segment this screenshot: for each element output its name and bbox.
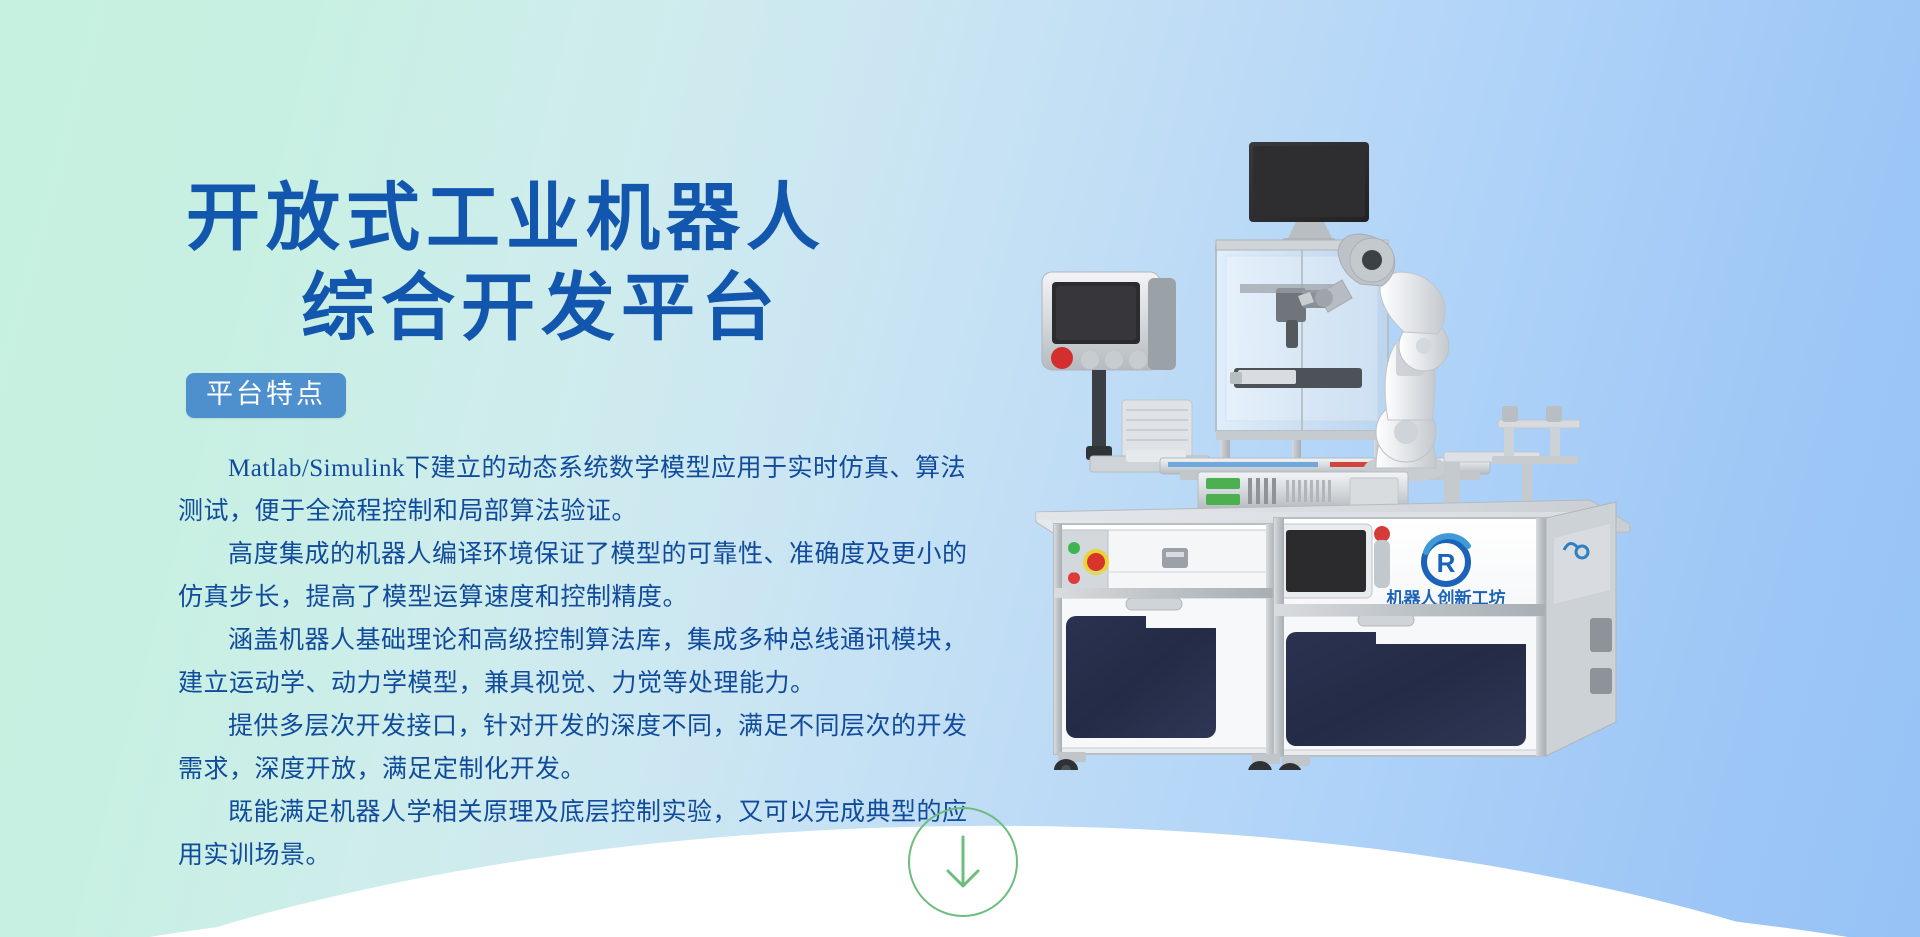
hero-banner: 开放式工业机器人 综合开发平台 平台特点 Matlab/Simulink下建立的… [0, 0, 1920, 937]
feature-paragraph: 涵盖机器人基础理论和高级控制算法库，集成多种总线通讯模块，建立运动学、动力学模型… [178, 619, 968, 705]
feature-paragraph-list: Matlab/Simulink下建立的动态系统数学模型应用于实时仿真、算法测试，… [178, 447, 968, 877]
page-title: 开放式工业机器人 综合开发平台 [186, 174, 966, 355]
scroll-down-button[interactable] [908, 807, 1018, 917]
feature-paragraph: Matlab/Simulink下建立的动态系统数学模型应用于实时仿真、算法测试，… [178, 447, 968, 533]
page-title-line-2: 综合开发平台 [186, 264, 966, 354]
brand-mark: R [1437, 548, 1456, 578]
feature-paragraph: 高度集成的机器人编译环境保证了模型的可靠性、准确度及更小的仿真步长，提高了模型运… [178, 533, 968, 619]
feature-paragraph: 提供多层次开发接口，针对开发的深度不同，满足不同层次的开发需求，深度开放，满足定… [178, 705, 968, 791]
cabinet-side [1546, 502, 1616, 756]
product-illustration: R 机器人创新工坊 [1030, 120, 1650, 770]
page-title-line-1: 开放式工业机器人 [186, 174, 966, 264]
arrow-down-icon [910, 809, 1016, 915]
monitor [1249, 142, 1369, 246]
work-fixtures [1444, 406, 1580, 504]
machine-graphic: R 机器人创新工坊 [1030, 120, 1650, 770]
hero-copy-column: 开放式工业机器人 综合开发平台 平台特点 Matlab/Simulink下建立的… [0, 0, 1000, 937]
feature-paragraph: 既能满足机器人学相关原理及底层控制实验，又可以完成典型的应用实训场景。 [178, 791, 968, 877]
cabinet-right: R 机器人创新工坊 [1274, 518, 1546, 756]
cabinet-left [1054, 524, 1276, 754]
status-badge: 平台特点 [186, 373, 346, 418]
